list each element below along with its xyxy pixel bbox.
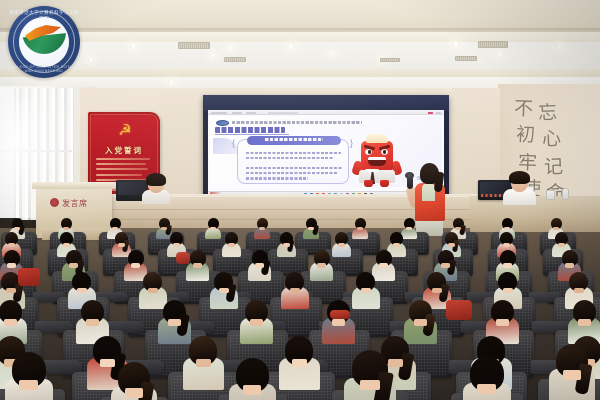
person-neck bbox=[173, 243, 180, 247]
anger-cartoon-character bbox=[353, 133, 401, 187]
person-neck bbox=[100, 359, 115, 367]
character-mouth bbox=[368, 157, 386, 166]
person-neck bbox=[379, 263, 388, 268]
person-neck bbox=[574, 288, 584, 294]
person-neck bbox=[503, 263, 512, 268]
person-neck bbox=[496, 319, 509, 326]
character-eye-right bbox=[381, 149, 388, 155]
red-garment bbox=[446, 300, 472, 320]
presenter-hair bbox=[420, 163, 439, 184]
audience-person bbox=[335, 232, 348, 252]
person-neck bbox=[118, 243, 125, 247]
screenshot-root: ☭ 入党誓词 不忘初心牢记使命 bbox=[0, 0, 600, 400]
person-neck bbox=[292, 359, 307, 367]
audience-person bbox=[208, 218, 219, 235]
audience-person bbox=[190, 250, 206, 274]
audience-person bbox=[5, 232, 18, 252]
ceiling-downlight-2 bbox=[227, 46, 233, 50]
ceiling-downlight-6 bbox=[452, 42, 460, 46]
audience-person bbox=[285, 336, 313, 378]
person-neck bbox=[19, 380, 38, 390]
audience-person bbox=[573, 300, 596, 335]
screen-top-bezel bbox=[203, 95, 449, 111]
audience-person bbox=[115, 232, 128, 252]
person-neck bbox=[219, 288, 229, 294]
audience-person bbox=[252, 250, 268, 274]
slide-card-header bbox=[247, 136, 341, 145]
audience-person bbox=[128, 250, 144, 274]
person-neck bbox=[563, 370, 581, 380]
slide-brace-left-icon: { bbox=[232, 138, 235, 148]
ceiling-downlight-8 bbox=[556, 44, 563, 48]
seal-ring-text-cn: 湖南师范大学计算机科学与工程学院 bbox=[8, 10, 80, 38]
audience-person bbox=[409, 300, 432, 335]
slide-decor-blob bbox=[213, 138, 239, 154]
oath-text-line-1 bbox=[96, 158, 150, 160]
control-operator-hair bbox=[509, 171, 530, 184]
person-neck bbox=[414, 319, 427, 326]
slide-paragraph-2 bbox=[246, 167, 342, 183]
speaker-podium: 发言席 bbox=[36, 186, 112, 238]
slide-brand-header bbox=[216, 119, 396, 126]
ceiling-air-vent-5 bbox=[380, 58, 400, 62]
ceiling-downlight-3 bbox=[287, 44, 295, 48]
audience-person bbox=[491, 300, 514, 335]
audience-person bbox=[245, 300, 268, 335]
person-neck bbox=[193, 263, 202, 268]
audience-person bbox=[214, 272, 233, 301]
audience-person bbox=[12, 352, 46, 400]
audience-person bbox=[556, 344, 588, 392]
slide-brand-text bbox=[232, 121, 362, 124]
calligraphy-char-2: 忘 bbox=[538, 104, 558, 124]
audience-person bbox=[81, 300, 104, 335]
person-neck bbox=[338, 243, 345, 247]
ceiling-downlight-9 bbox=[88, 58, 94, 61]
person-neck bbox=[243, 385, 261, 395]
person-neck bbox=[432, 288, 442, 294]
calligraphy-char-3: 初 bbox=[516, 126, 536, 146]
person-neck bbox=[332, 319, 345, 326]
audience-person bbox=[285, 272, 304, 301]
audience-person bbox=[404, 218, 415, 235]
person-neck bbox=[503, 288, 513, 294]
audience-person bbox=[314, 250, 330, 274]
toolbar-search-field[interactable] bbox=[268, 112, 298, 114]
person-neck bbox=[448, 243, 455, 247]
red-book bbox=[330, 310, 350, 319]
red-cap bbox=[176, 252, 190, 264]
microphone-icon bbox=[405, 172, 414, 179]
person-neck bbox=[283, 243, 290, 247]
toolbar-item-view[interactable] bbox=[246, 112, 256, 114]
podium-emblem-icon bbox=[50, 198, 59, 207]
person-neck bbox=[6, 288, 16, 294]
audience-person bbox=[306, 218, 317, 235]
person-neck bbox=[148, 288, 158, 294]
person-neck bbox=[4, 319, 17, 326]
person-neck bbox=[360, 380, 380, 391]
character-eye-left bbox=[365, 149, 372, 155]
person-neck bbox=[196, 359, 211, 367]
oath-text-line-2 bbox=[96, 163, 146, 165]
audience-person bbox=[225, 232, 238, 252]
audience-person bbox=[445, 232, 458, 252]
person-neck bbox=[361, 288, 371, 294]
audience-person bbox=[236, 358, 269, 400]
toolbar-item-edit[interactable] bbox=[232, 112, 242, 114]
audience-person bbox=[498, 272, 517, 301]
audience-person bbox=[356, 272, 375, 301]
audience-person bbox=[390, 232, 403, 252]
calligraphy-char-6: 记 bbox=[544, 158, 564, 178]
red-backpack bbox=[18, 268, 40, 286]
podium-label: 发言席 bbox=[62, 198, 88, 209]
person-neck bbox=[477, 384, 496, 394]
ceiling-downlight-7 bbox=[497, 52, 503, 55]
person-neck bbox=[393, 243, 400, 247]
calligraphy-char-4: 心 bbox=[542, 130, 562, 150]
wall-panel-left-inner bbox=[160, 92, 206, 204]
audience-person bbox=[280, 232, 293, 252]
ceiling-downlight-5 bbox=[210, 54, 216, 57]
ceiling-air-vent-4 bbox=[455, 56, 477, 61]
podium-top-surface bbox=[32, 182, 116, 189]
toolbar-close-icon[interactable] bbox=[436, 112, 441, 114]
control-small-device bbox=[546, 190, 555, 200]
front-desk-staff-hair bbox=[146, 173, 166, 186]
audience-person bbox=[189, 336, 217, 378]
calligraphy-char-1: 不 bbox=[514, 100, 534, 120]
ceiling-air-vent-2 bbox=[224, 57, 246, 62]
person-neck bbox=[441, 263, 450, 268]
slide-paragraph-1 bbox=[246, 152, 341, 162]
seal-ring-text-en: COLLEGE OF COMPUTER SCIENCE AND ENGINEER… bbox=[8, 65, 80, 73]
audience-person bbox=[159, 218, 170, 235]
audience-person bbox=[555, 232, 568, 252]
person-neck bbox=[250, 319, 263, 326]
university-seal-watermark: 湖南师范大学计算机科学与工程学院 COLLEGE OF COMPUTER SCI… bbox=[8, 6, 80, 78]
slide-card-header-text bbox=[265, 138, 323, 141]
water-cup bbox=[562, 188, 569, 200]
person-neck bbox=[317, 263, 326, 268]
ceiling-air-vent-3 bbox=[478, 41, 508, 48]
hammer-sickle-icon: ☭ bbox=[106, 120, 142, 142]
oath-text-line-4 bbox=[96, 174, 142, 176]
app-toolbar[interactable] bbox=[208, 110, 444, 115]
person-neck bbox=[131, 263, 140, 268]
ceiling-downlight-4 bbox=[330, 52, 335, 55]
audience-person bbox=[569, 272, 588, 301]
audience-person bbox=[60, 232, 73, 252]
oath-text-line-3 bbox=[96, 168, 148, 170]
person-neck bbox=[578, 319, 591, 326]
person-neck bbox=[388, 359, 403, 367]
ceiling-air-vent-1 bbox=[178, 42, 210, 49]
character-leg-right bbox=[380, 180, 389, 187]
ceiling-downlight-11 bbox=[168, 80, 175, 84]
audience-person bbox=[163, 300, 186, 335]
person-neck bbox=[63, 243, 70, 247]
audience-person bbox=[0, 300, 22, 335]
audience-person bbox=[66, 250, 82, 274]
person-neck bbox=[255, 263, 264, 268]
slide-content-card bbox=[237, 139, 349, 184]
audience-person bbox=[470, 356, 504, 400]
ceiling-mid-section bbox=[0, 42, 600, 72]
audience-person bbox=[352, 350, 388, 400]
oath-board-title: 入党誓词 bbox=[88, 145, 160, 156]
toolbar-record-icon[interactable] bbox=[428, 112, 433, 114]
person-neck bbox=[125, 388, 143, 398]
audience-person bbox=[118, 362, 150, 400]
audience-person bbox=[427, 272, 446, 301]
audience-person bbox=[257, 218, 268, 235]
audience-person bbox=[500, 232, 513, 252]
audience-person bbox=[170, 232, 183, 252]
character-leg-left bbox=[364, 180, 373, 187]
person-neck bbox=[290, 288, 300, 294]
person-neck bbox=[7, 263, 16, 268]
person-neck bbox=[69, 263, 78, 268]
audience-person bbox=[500, 250, 516, 274]
person-neck bbox=[86, 319, 99, 326]
audience-person bbox=[72, 272, 91, 301]
person-neck bbox=[565, 263, 574, 268]
person-neck bbox=[168, 319, 181, 326]
character-flame-head-icon bbox=[366, 134, 388, 143]
slide-institution-logo-icon bbox=[216, 120, 229, 126]
person-neck bbox=[8, 243, 15, 247]
audience-person bbox=[438, 250, 454, 274]
person-neck bbox=[503, 243, 510, 247]
person-neck bbox=[77, 288, 87, 294]
audience-person bbox=[355, 218, 366, 235]
audience-person bbox=[376, 250, 392, 274]
presenter-inner-shirt bbox=[422, 183, 435, 201]
audience-person bbox=[143, 272, 162, 301]
toolbar-item-file[interactable] bbox=[211, 112, 227, 114]
ceiling-downlight-1 bbox=[130, 44, 137, 48]
person-neck bbox=[228, 243, 235, 247]
audience-person bbox=[562, 250, 578, 274]
person-neck bbox=[558, 243, 565, 247]
slide-title-text bbox=[215, 127, 285, 133]
